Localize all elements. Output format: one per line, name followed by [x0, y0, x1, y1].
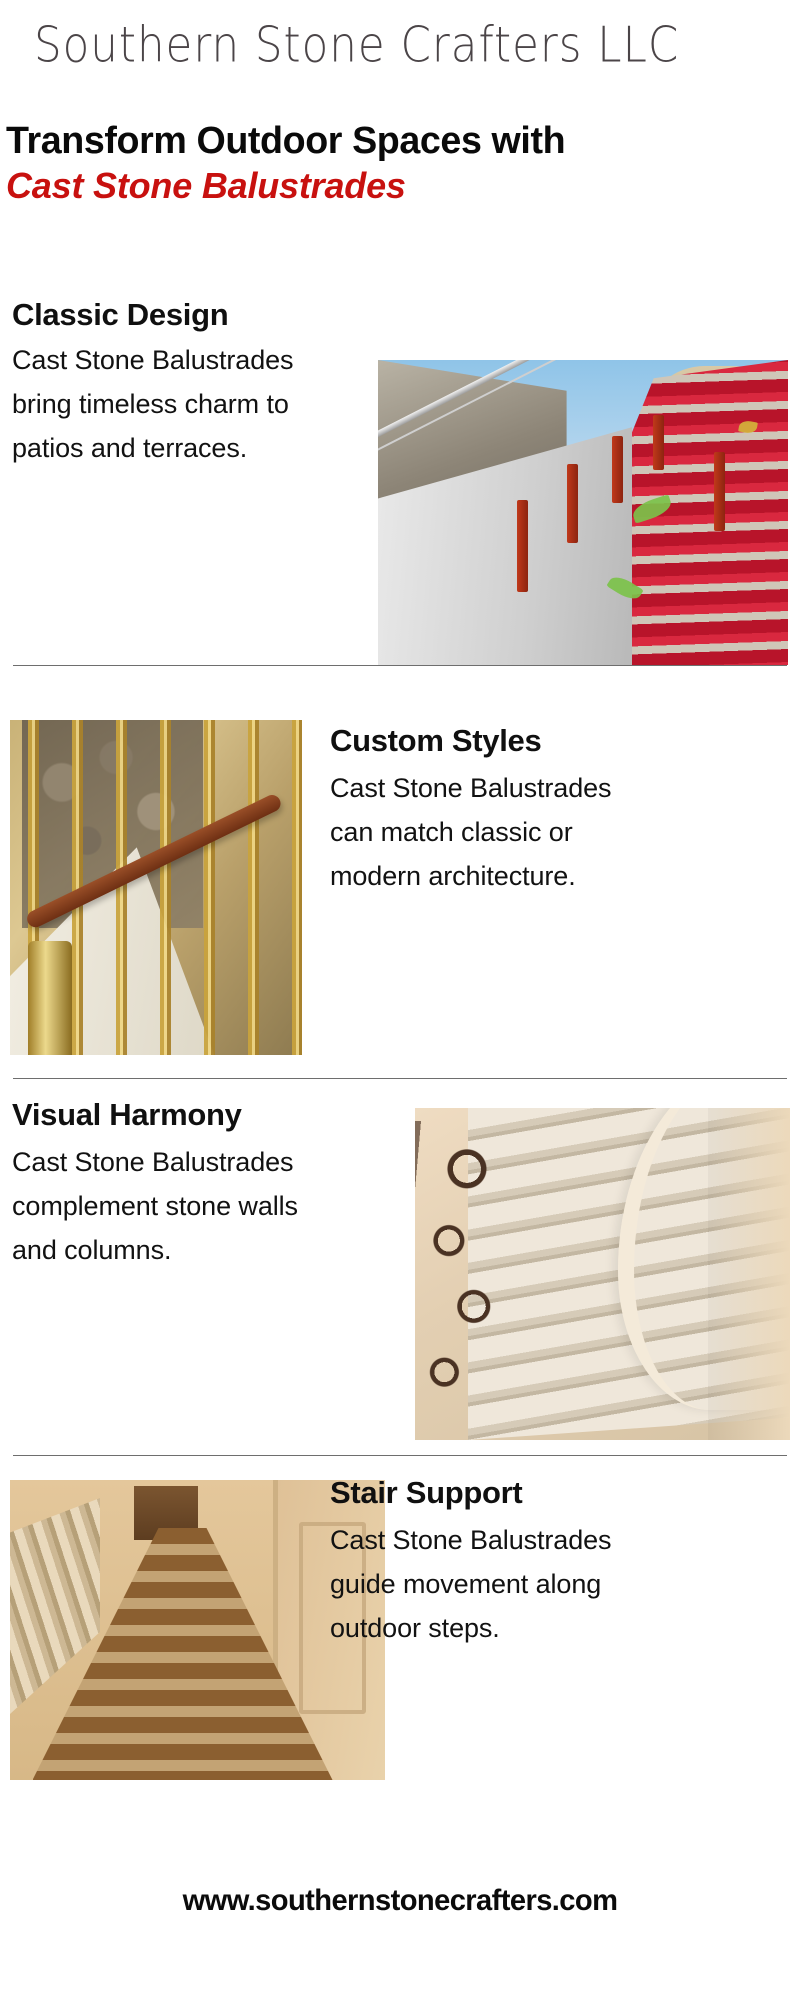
section-divider [13, 665, 787, 666]
photo1-post [612, 436, 623, 503]
section-body: Cast Stone Balustrades bring timeless ch… [12, 338, 294, 470]
section-body: Cast Stone Balustrades complement stone … [12, 1140, 312, 1272]
headline-accent: Cast Stone Balustrades [6, 164, 796, 208]
section-visual-harmony: Visual Harmony Cast Stone Balustrades co… [0, 1078, 800, 1456]
section-title: Classic Design [12, 296, 228, 334]
photo2-newel-post [28, 941, 72, 1055]
photo3-wrought-iron-railing [415, 1121, 528, 1420]
photo-brass-balusters [10, 720, 302, 1055]
section-title: Stair Support [330, 1474, 522, 1512]
section-body: Cast Stone Balustrades can match classic… [330, 766, 620, 898]
section-classic-design: Classic Design Cast Stone Balustrades br… [0, 282, 800, 666]
photo1-post [517, 500, 528, 592]
photo-red-carpet-staircase [378, 360, 788, 665]
photo3-right-wall [708, 1108, 791, 1440]
brand-logo-text: Southern Stone Crafters LLC [34, 12, 767, 79]
page-title: Transform Outdoor Spaces with Cast Stone… [6, 118, 796, 208]
section-stair-support: Stair Support Cast Stone Balustrades gui… [0, 1456, 800, 1786]
photo1-post [567, 464, 578, 543]
photo1-post [653, 415, 664, 470]
photo-wooden-staircase [10, 1480, 385, 1780]
footer-website-url[interactable]: www.southernstonecrafters.com [12, 1884, 788, 1918]
photo1-post [714, 452, 725, 531]
headline-primary: Transform Outdoor Spaces with [6, 118, 788, 164]
section-custom-styles: Custom Styles Cast Stone Balustrades can… [0, 696, 800, 1080]
section-title: Custom Styles [330, 722, 541, 760]
photo-pale-stone-staircase [415, 1108, 790, 1440]
section-title: Visual Harmony [12, 1096, 242, 1134]
section-body: Cast Stone Balustrades guide movement al… [330, 1518, 630, 1650]
